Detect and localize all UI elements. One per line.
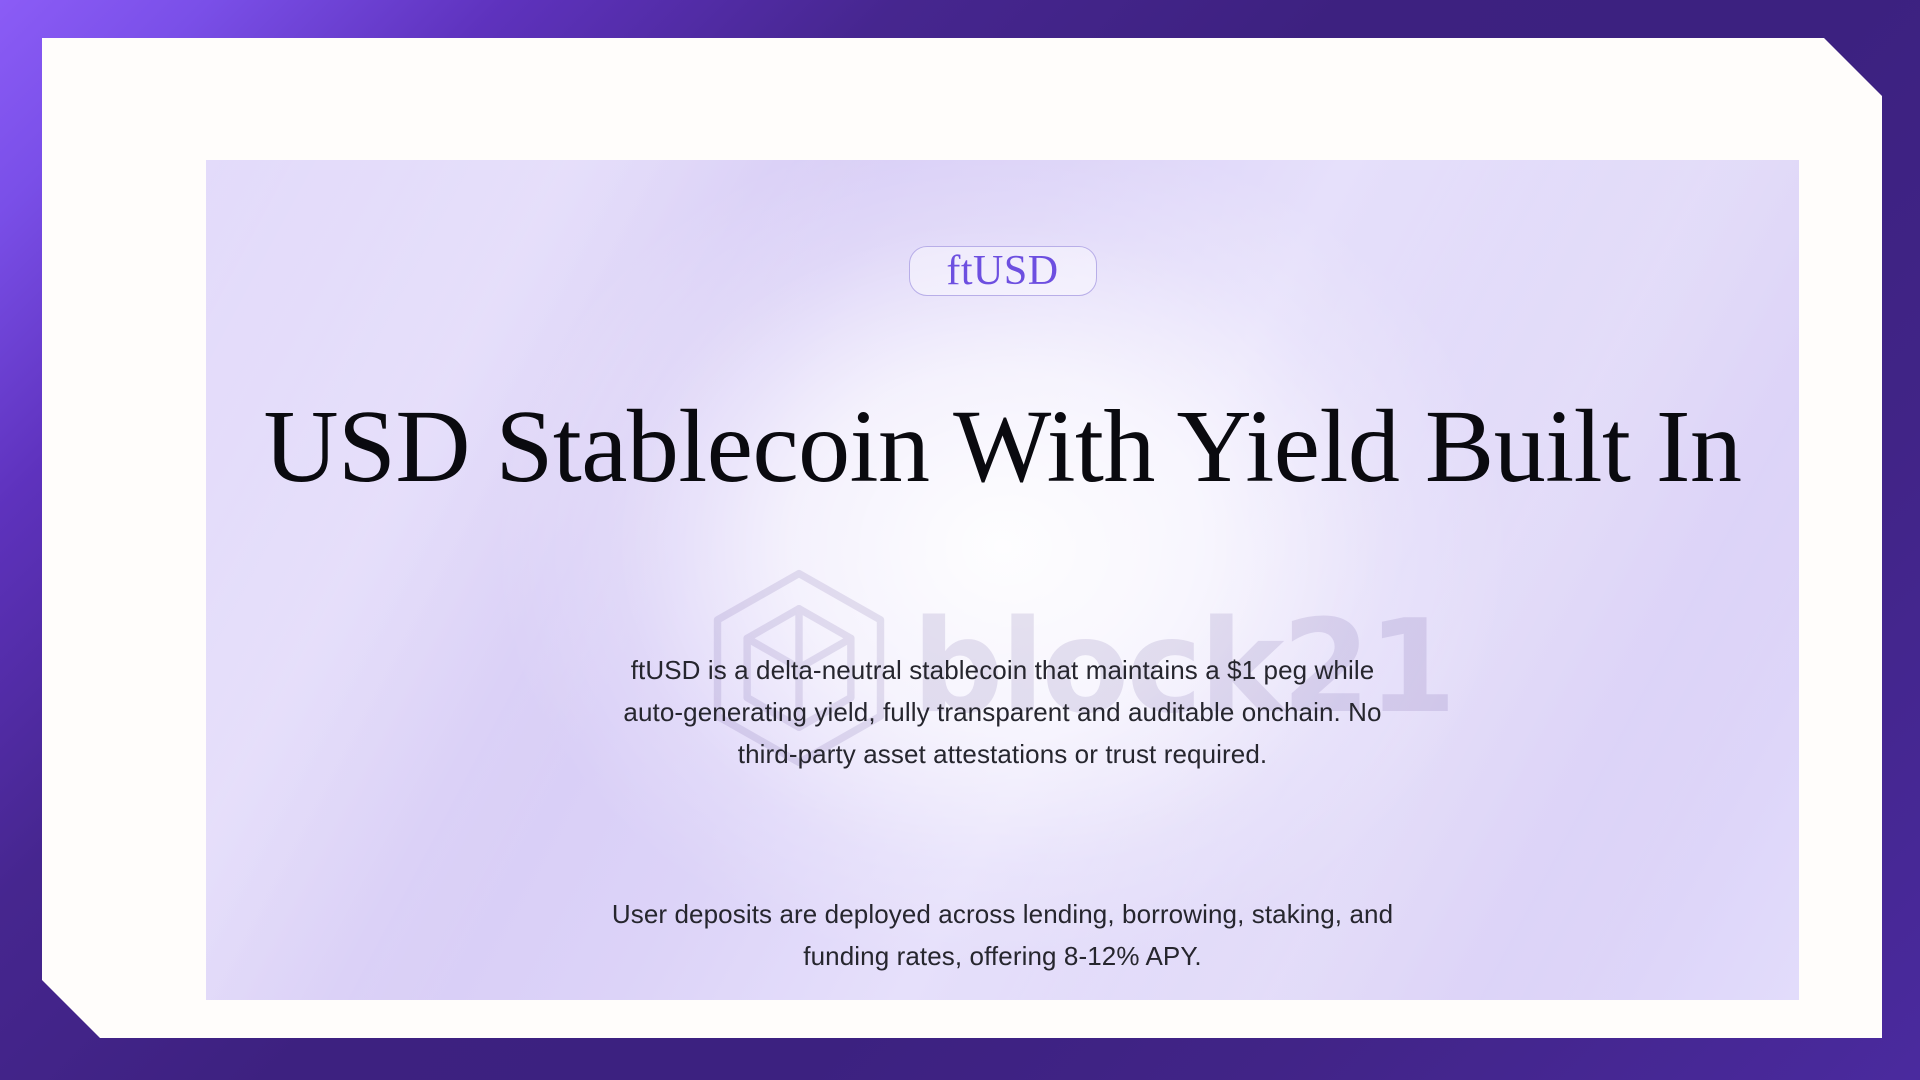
description-paragraph-secondary: User deposits are deployed across lendin… — [603, 893, 1403, 977]
page-title: USD Stablecoin With Yield Built In — [263, 392, 1741, 501]
slide-card: block21 ftUSD USD Stablecoin With Yield … — [42, 38, 1882, 1038]
ftusd-badge: ftUSD — [909, 246, 1097, 296]
slide-content: ftUSD USD Stablecoin With Yield Built In… — [206, 160, 1799, 1000]
description-paragraph-primary: ftUSD is a delta-neutral stablecoin that… — [603, 649, 1403, 775]
content-panel: block21 ftUSD USD Stablecoin With Yield … — [206, 160, 1799, 1000]
